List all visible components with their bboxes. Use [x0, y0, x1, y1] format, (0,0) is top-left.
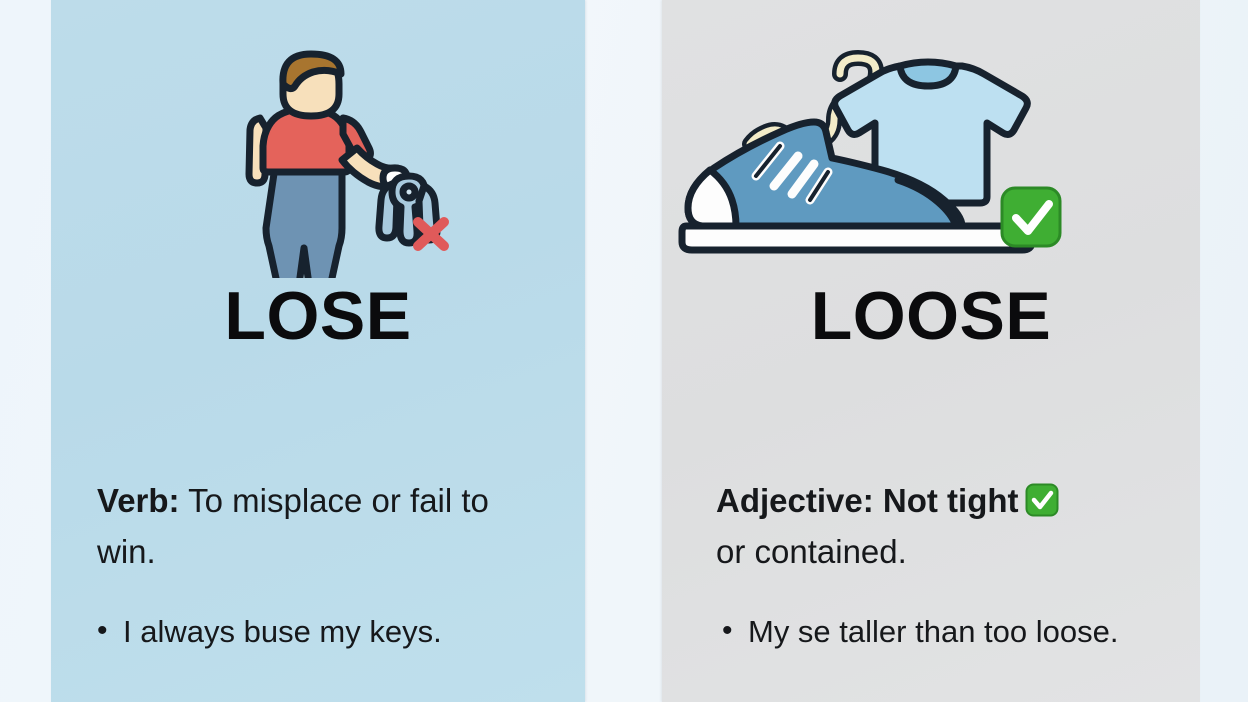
loose-clothing-items-icon [662, 0, 1200, 278]
tshirt-collar [900, 62, 956, 86]
lose-example-list: I always buse my keys. [97, 610, 551, 655]
page-title-lose: LOSE [51, 282, 585, 350]
list-item: I always buse my keys. [97, 610, 551, 655]
lose-text-block: Verb: To misplace or fail to win. I alwa… [51, 442, 585, 702]
list-item: My se taller than too loose. [722, 610, 1176, 655]
lose-part-of-speech: Verb: [97, 482, 180, 519]
green-check-icon [1002, 188, 1060, 246]
person-pants [266, 160, 342, 278]
loose-text-block: Adjective: Not tight or contained. My se… [662, 442, 1200, 702]
slide-canvas: LOSE Verb: To misplace or fail to win. I… [0, 0, 1248, 702]
panel-lose: LOSE Verb: To misplace or fail to win. I… [51, 0, 585, 702]
loose-definition-rest: or contained. [716, 533, 907, 570]
person-dropping-keys-icon [51, 0, 585, 278]
key-hole [403, 186, 415, 198]
illustration-person-dropping-keys [51, 0, 585, 278]
green-check-icon [1025, 480, 1059, 514]
loose-part-of-speech: Adjective: Not tight [716, 482, 1019, 519]
page-title-loose: LOOSE [662, 282, 1200, 350]
panel-loose: LOOSE Adjective: Not tight or contained.… [662, 0, 1200, 702]
loose-example-list: My se taller than too loose. [716, 610, 1176, 655]
sneaker-sole [682, 226, 1032, 250]
lose-definition: Verb: To misplace or fail to win. [97, 475, 551, 578]
illustration-loose-items [662, 0, 1200, 278]
loose-definition: Adjective: Not tight or contained. [716, 475, 1176, 578]
